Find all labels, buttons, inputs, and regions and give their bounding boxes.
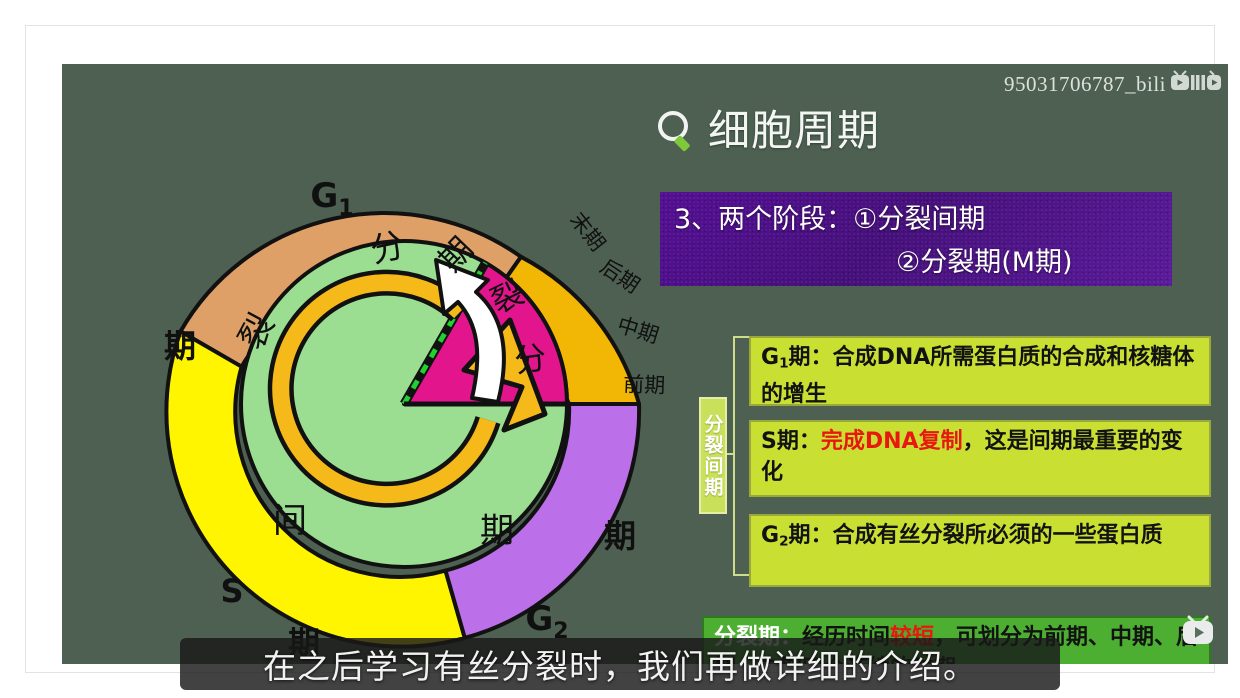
subtitle-text: 在之后学习有丝分裂时，我们再做详细的介绍。: [263, 640, 977, 688]
bilibili-logo-watermark: [1168, 68, 1224, 94]
s-lead: S期：: [761, 429, 821, 454]
banner-line-1: 3、两个阶段：①分裂间期: [674, 198, 1158, 241]
ring-label-g1: G1: [310, 176, 353, 221]
ring-label-g2-qi: 期: [604, 517, 636, 555]
g2-body: 合成有丝分裂所必须的一些蛋白质: [833, 523, 1163, 548]
info-box-g1: G1期：合成DNA所需蛋白质的合成和核糖体的增生: [749, 336, 1211, 406]
interphase-vertical-label: 分裂间期: [699, 397, 727, 514]
cell-cycle-diagram: G1 期 S 期 G2 期 末期 后期 中期 前期: [92, 102, 688, 664]
g1-lead: G1期：: [761, 345, 833, 370]
ring-label-g1-qi: 期: [164, 327, 196, 365]
mitosis-char-fen: 分: [512, 338, 549, 380]
interphase-label-text: 分裂间期: [700, 414, 727, 498]
stage-banner: 3、两个阶段：①分裂间期 ②分裂期(M期): [660, 192, 1172, 286]
info-box-s: S期：完成DNA复制，这是间期最重要的变化: [749, 420, 1211, 497]
interphase-bracket: [733, 336, 749, 576]
substage-houqi: 后期: [596, 255, 644, 298]
info-box-g2: G2期：合成有丝分裂所必须的一些蛋白质: [749, 514, 1211, 587]
page-title: 细胞周期: [708, 108, 880, 154]
bilibili-tv-play-icon[interactable]: [1178, 612, 1218, 652]
substage-moqi: 末期: [565, 208, 610, 256]
slide-canvas: 95031706787_bili: [62, 64, 1228, 664]
uploader-watermark: 95031706787_bili: [1004, 72, 1166, 97]
interphase-char-jian: 间: [273, 501, 307, 541]
s-body-highlight: 完成DNA复制: [821, 429, 963, 454]
substage-zhongqi: 中期: [614, 313, 661, 348]
interphase-char-qi: 期: [480, 511, 514, 551]
cell-cycle-svg: G1 期 S 期 G2 期 末期 后期 中期 前期: [92, 102, 688, 662]
substage-qianqi: 前期: [623, 372, 666, 397]
g2-lead: G2期：: [761, 523, 833, 548]
video-subtitle: 在之后学习有丝分裂时，我们再做详细的介绍。: [180, 638, 1060, 690]
slide-mat: 95031706787_bili: [25, 25, 1215, 673]
video-frame: 95031706787_bili: [0, 0, 1240, 698]
banner-line-2: ②分裂期(M期): [674, 241, 1158, 284]
ring-label-s: S: [220, 572, 243, 610]
